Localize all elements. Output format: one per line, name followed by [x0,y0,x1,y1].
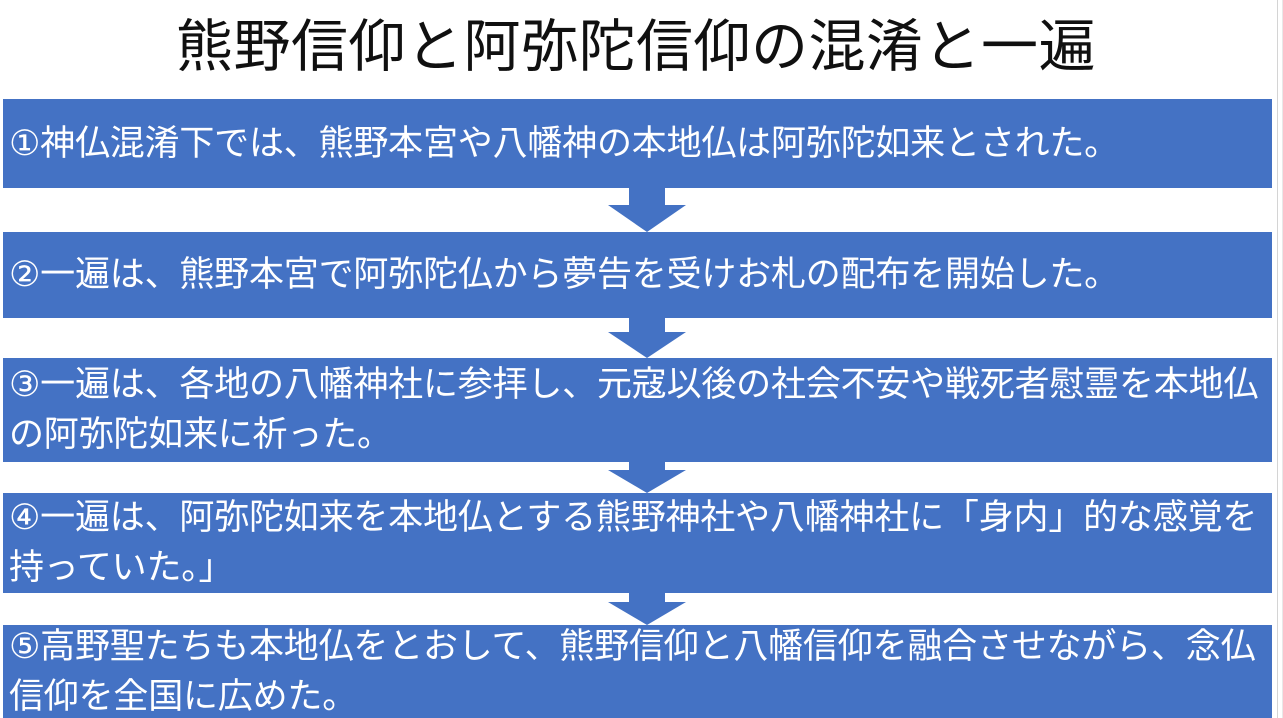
down-arrow-icon-3 [608,462,686,493]
flow-step-2-text: ②一遍は、熊野本宮で阿弥陀仏から夢告を受けお札の配布を開始した。 [9,251,1266,299]
flow-step-4[interactable]: ④一遍は、阿弥陀如来を本地仏とする熊野神社や八幡神社に「身内」的な感覚を持ってい… [3,493,1272,593]
flow-step-2[interactable]: ②一遍は、熊野本宮で阿弥陀仏から夢告を受けお札の配布を開始した。 [3,232,1272,318]
page-title: 熊野信仰と阿弥陀信仰の混淆と一遍 [0,7,1272,89]
flow-step-4-text: ④一遍は、阿弥陀如来を本地仏とする熊野神社や八幡神社に「身内」的な感覚を持ってい… [9,493,1266,593]
page-edge-line [1277,0,1278,718]
slide-canvas: 熊野信仰と阿弥陀信仰の混淆と一遍 ①神仏混淆下では、熊野本宮や八幡神の本地仏は阿… [0,0,1283,718]
down-arrow-icon-1 [608,188,686,232]
flow-step-1-text: ①神仏混淆下では、熊野本宮や八幡神の本地仏は阿弥陀如来とされた。 [9,120,1266,168]
flow-step-5[interactable]: ⑤高野聖たちも本地仏をとおして、熊野信仰と八幡信仰を融合させながら、念仏信仰を全… [3,625,1272,718]
flow-step-5-text: ⑤高野聖たちも本地仏をとおして、熊野信仰と八幡信仰を融合させながら、念仏信仰を全… [9,625,1266,718]
flow-step-3-text: ③一遍は、各地の八幡神社に参拝し、元寇以後の社会不安や戦死者慰霊を本地仏の阿弥陀… [9,360,1266,460]
down-arrow-icon-4 [608,593,686,625]
down-arrow-icon-2 [608,318,686,358]
flow-step-3[interactable]: ③一遍は、各地の八幡神社に参拝し、元寇以後の社会不安や戦死者慰霊を本地仏の阿弥陀… [3,358,1272,462]
flow-step-1[interactable]: ①神仏混淆下では、熊野本宮や八幡神の本地仏は阿弥陀如来とされた。 [3,99,1272,188]
